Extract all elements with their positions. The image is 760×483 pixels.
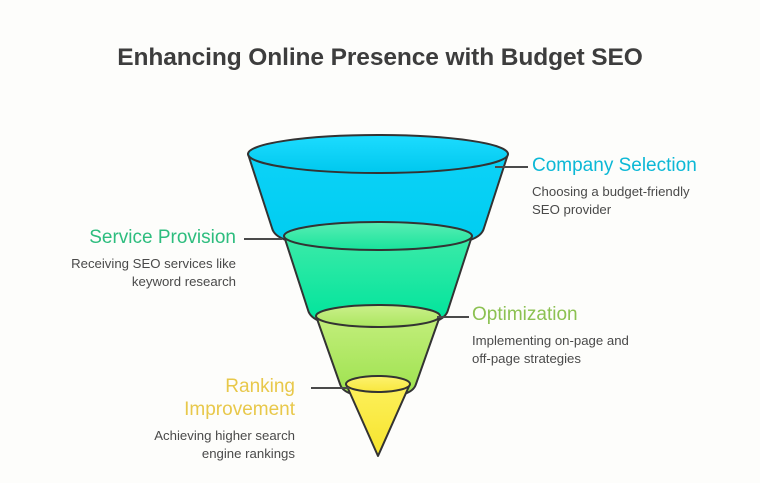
funnel-label-stage-3-title: Optimization [472,303,712,326]
funnel-label-stage-2[interactable]: Service Provision Receiving SEO services… [44,226,236,290]
connector-line-stage-3 [437,316,469,318]
funnel-stage-4-body [346,384,410,456]
page-title: Enhancing Online Presence with Budget SE… [0,44,760,72]
funnel-stage-3-rim [316,305,440,327]
connector-line-stage-1 [495,166,528,168]
connector-line-stage-2 [244,238,282,240]
funnel-label-stage-1-title: Company Selection [532,154,754,177]
funnel-label-stage-3-description: Implementing on-page and off-page strate… [472,332,712,367]
funnel-label-stage-4-title: Ranking Improvement [120,375,295,421]
funnel-label-stage-2-description: Receiving SEO services like keyword rese… [44,255,236,290]
funnel-label-stage-1[interactable]: Company Selection Choosing a budget-frie… [532,154,754,218]
funnel-label-stage-4-description: Achieving higher search engine rankings [120,427,295,462]
connector-line-stage-4 [311,387,349,389]
funnel-stage-1-rim [248,135,508,173]
funnel-stage-4[interactable] [346,376,410,456]
funnel-label-stage-1-description: Choosing a budget-friendly SEO provider [532,183,754,218]
funnel-stage-2-rim [284,222,472,250]
infographic-canvas: Enhancing Online Presence with Budget SE… [0,0,760,483]
funnel-label-stage-4[interactable]: Ranking Improvement Achieving higher sea… [120,375,295,462]
funnel-stage-4-rim [346,376,410,392]
funnel-label-stage-2-title: Service Provision [44,226,236,249]
funnel-label-stage-3[interactable]: Optimization Implementing on-page and of… [472,303,712,367]
